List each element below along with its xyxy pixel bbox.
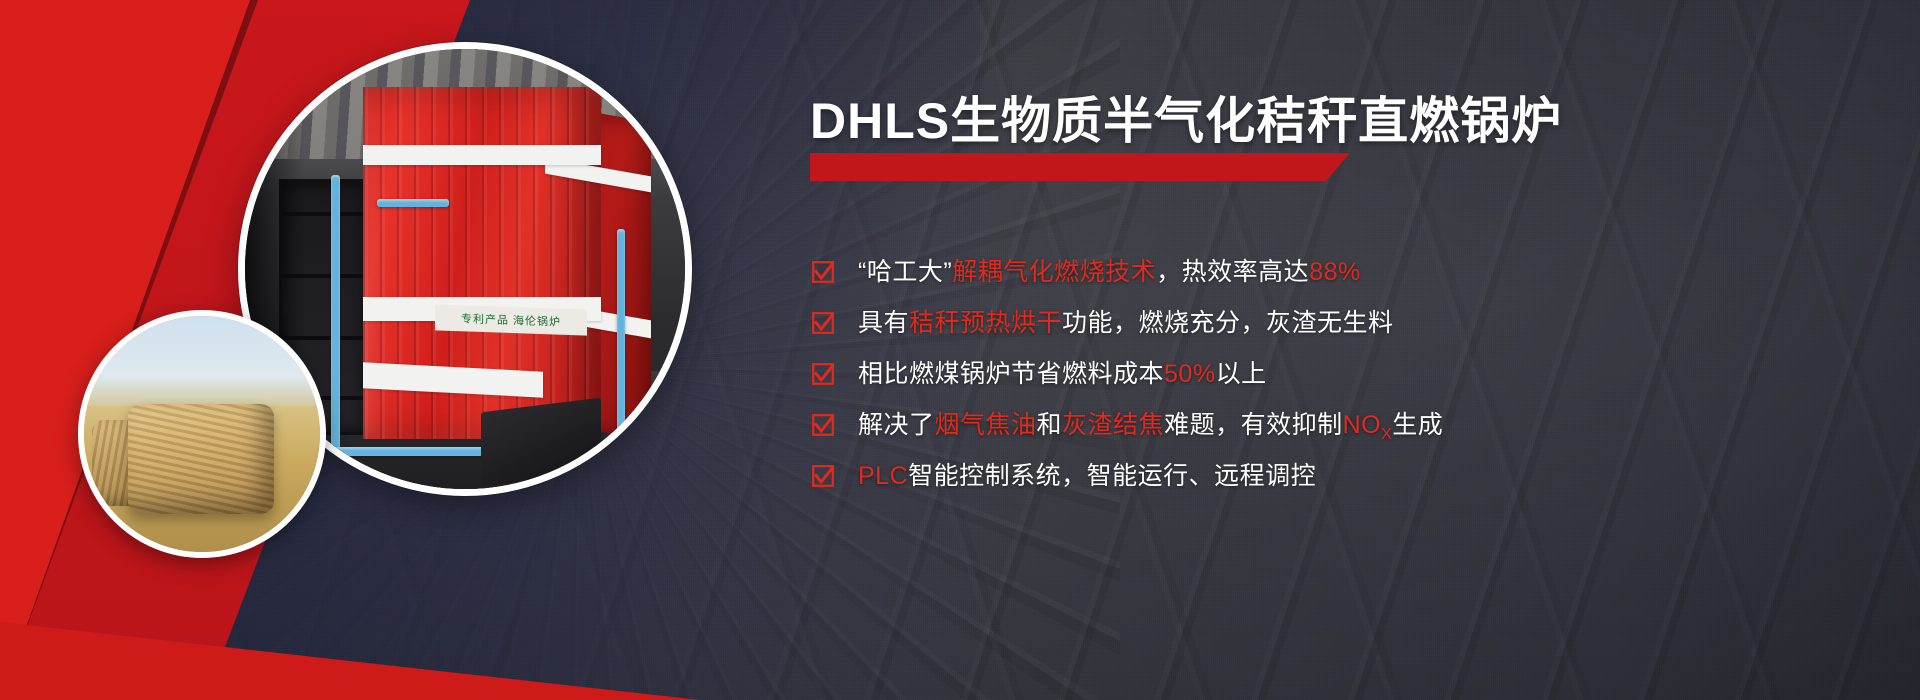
feature-list-item-text: PLC智能控制系统，智能运行、远程调控 — [858, 459, 1316, 493]
headline-block: DHLS生物质半气化秸秆直燃锅炉 — [810, 96, 1562, 178]
feature-list-item: PLC智能控制系统，智能运行、远程调控 — [812, 459, 1872, 495]
boiler-photo-pipe-vertical-left — [331, 175, 340, 451]
feature-list-item: “哈工大”解耦气化燃烧技术，热效率高达88% — [812, 255, 1872, 291]
feature-list-item-text: 解决了烟气焦油和灰渣结焦难题，有效抑制NOX生成 — [858, 408, 1443, 446]
page-title: DHLS生物质半气化秸秆直燃锅炉 — [810, 96, 1562, 146]
feature-list-item-text: “哈工大”解耦气化燃烧技术，热效率高达88% — [858, 255, 1361, 289]
checkbox-checked-icon — [812, 414, 834, 436]
straw-photo — [78, 310, 326, 558]
promo-banner: 专利产品 海伦锅炉 DHLS生物质半气化秸秆直燃锅炉 “哈工大”解耦气化燃烧技术… — [0, 0, 1920, 700]
boiler-photo-nameplate: 专利产品 海伦锅炉 — [435, 304, 587, 335]
checkbox-checked-icon — [812, 312, 834, 334]
straw-photo-sky — [84, 316, 320, 415]
feature-list-item: 解决了烟气焦油和灰渣结焦难题，有效抑制NOX生成 — [812, 408, 1872, 444]
feature-list-item-text: 具有秸秆预热烘干功能，燃烧充分，灰渣无生料 — [858, 306, 1394, 340]
boiler-photo-pipe-vertical-right — [617, 229, 625, 451]
headline-underline-bar — [810, 153, 1350, 181]
boiler-photo-band-upper — [363, 145, 601, 165]
boiler-photo-feeder-unit — [481, 398, 601, 487]
feature-list-item: 具有秸秆预热烘干功能，燃烧充分，灰渣无生料 — [812, 306, 1872, 342]
feature-list-item: 相比燃煤锅炉节省燃料成本50%以上 — [812, 357, 1872, 393]
feature-list-item-text: 相比燃煤锅炉节省燃料成本50%以上 — [858, 357, 1267, 391]
boiler-photo-pipe-branch — [377, 199, 449, 207]
checkbox-checked-icon — [812, 261, 834, 283]
feature-list: “哈工大”解耦气化燃烧技术，热效率高达88%具有秸秆预热烘干功能，燃烧充分，灰渣… — [812, 255, 1872, 510]
straw-photo-bale-main — [128, 404, 274, 514]
checkbox-checked-icon — [812, 363, 834, 385]
checkbox-checked-icon — [812, 465, 834, 487]
